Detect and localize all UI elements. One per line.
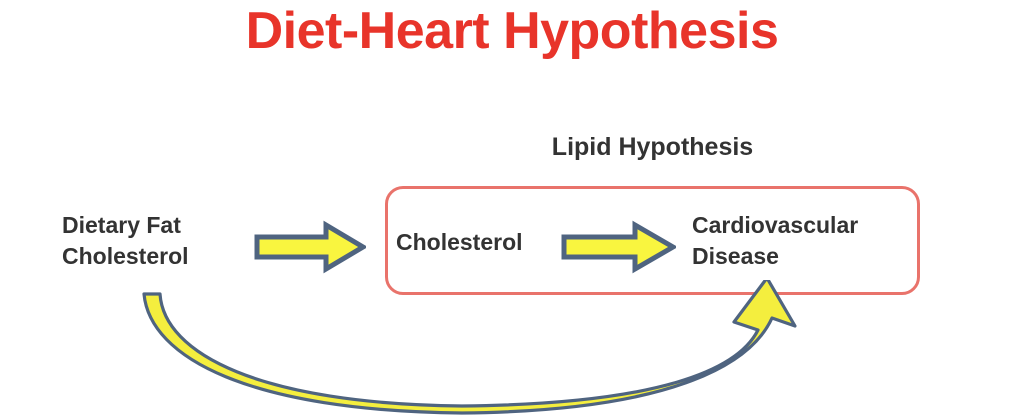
node-dietary-fat-cholesterol: Dietary Fat Cholesterol	[62, 210, 189, 272]
node-cholesterol: Cholesterol	[396, 227, 523, 258]
node-cardiovascular-disease-line1: Cardiovascular	[692, 210, 858, 241]
node-dietary-fat-cholesterol-line1: Dietary Fat	[62, 210, 189, 241]
right-block-arrow-icon	[561, 220, 676, 279]
page-title: Diet-Heart Hypothesis	[0, 2, 1024, 60]
lipid-hypothesis-label: Lipid Hypothesis	[385, 132, 920, 162]
node-cardiovascular-disease-line2: Disease	[692, 241, 858, 272]
node-cardiovascular-disease: Cardiovascular Disease	[692, 210, 858, 272]
node-dietary-fat-cholesterol-line2: Cholesterol	[62, 241, 189, 272]
diagram-canvas: Diet-Heart Hypothesis Lipid Hypothesis D…	[0, 0, 1024, 420]
curved-arrow-icon	[120, 280, 810, 420]
node-cholesterol-line1: Cholesterol	[396, 227, 523, 258]
right-block-arrow-icon	[254, 220, 366, 279]
